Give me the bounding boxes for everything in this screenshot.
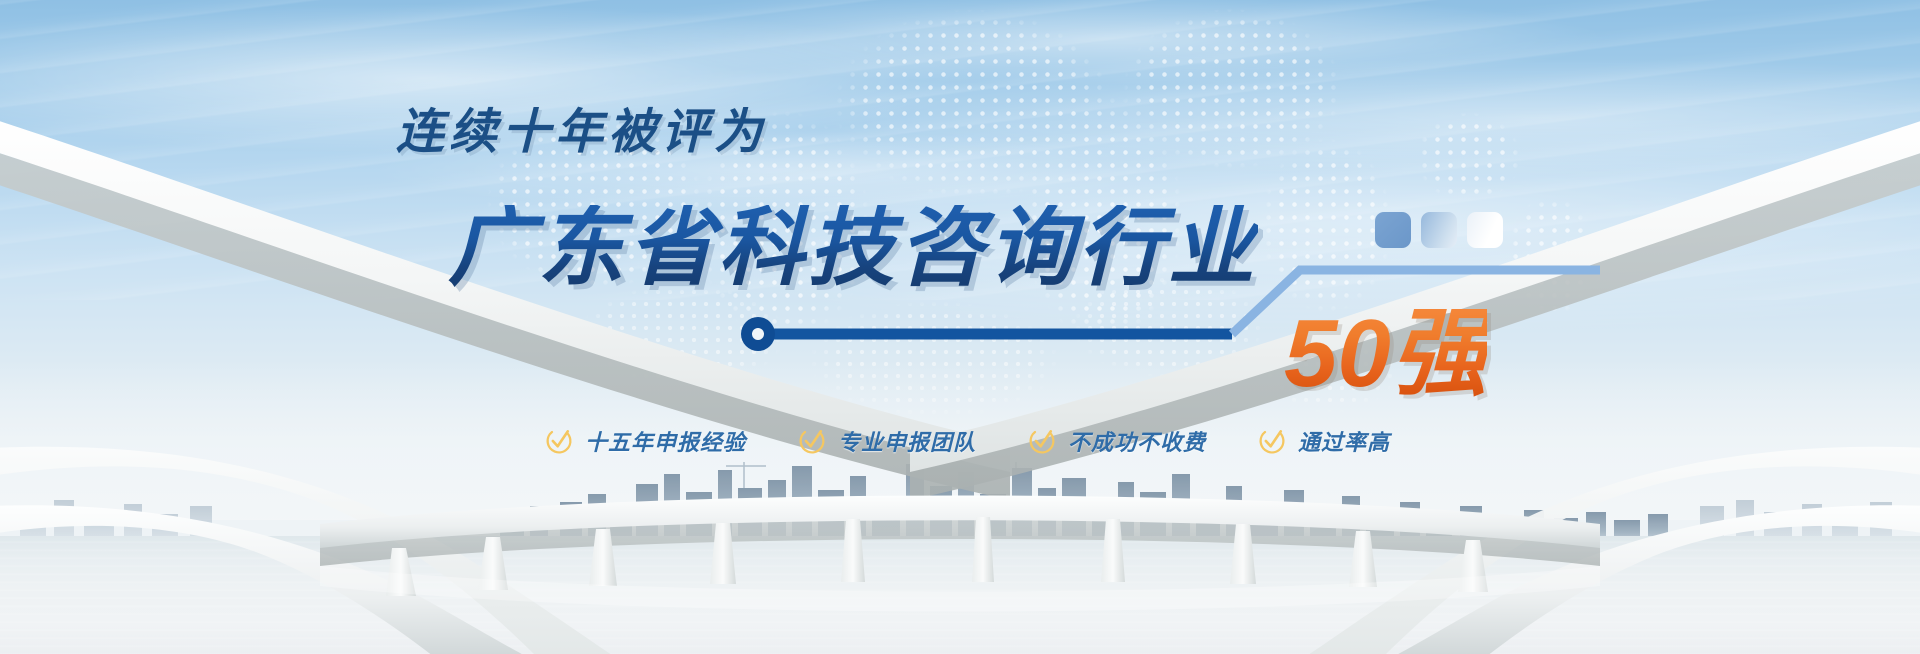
page-title: 广东省科技咨询行业 bbox=[448, 205, 1258, 291]
feature-label: 不成功不收费 bbox=[1068, 425, 1206, 457]
feature-label: 通过率高 bbox=[1298, 425, 1390, 457]
feature-label: 十五年申报经验 bbox=[585, 425, 746, 457]
banner-copy: 连续十年被评为 广东省科技咨询行业 50强 bbox=[0, 0, 1920, 654]
check-circle-icon bbox=[545, 427, 573, 455]
feature-item-team: 专业申报团队 bbox=[798, 425, 976, 457]
check-circle-icon bbox=[1258, 427, 1286, 455]
top50-badge: 50强 bbox=[1284, 306, 1487, 402]
feature-list: 十五年申报经验 专业申报团队 不成功不收费 bbox=[545, 425, 1390, 457]
promo-banner: 连续十年被评为 广东省科技咨询行业 50强 十五年申报经验 专业申报团队 bbox=[0, 0, 1920, 654]
eyebrow-text: 连续十年被评为 bbox=[396, 92, 767, 162]
feature-item-experience: 十五年申报经验 bbox=[545, 425, 746, 457]
feature-item-pass-rate: 通过率高 bbox=[1258, 425, 1390, 457]
feature-label: 专业申报团队 bbox=[838, 425, 976, 457]
check-circle-icon bbox=[1028, 427, 1056, 455]
check-circle-icon bbox=[798, 427, 826, 455]
feature-item-no-fee: 不成功不收费 bbox=[1028, 425, 1206, 457]
